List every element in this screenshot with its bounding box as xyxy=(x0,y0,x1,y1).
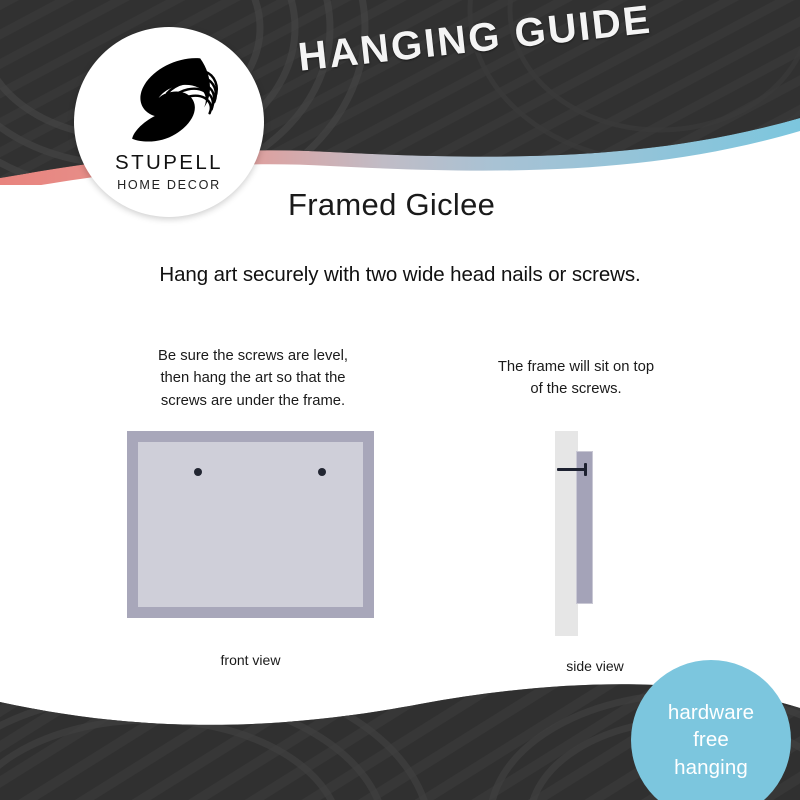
side-instruction-line-1: The frame will sit on top xyxy=(460,356,692,378)
front-view-mat xyxy=(138,442,363,607)
badge-line-3: hanging xyxy=(674,754,748,781)
side-view-diagram xyxy=(530,425,660,640)
side-instruction-line-2: of the screws. xyxy=(460,378,692,400)
badge-line-2: free xyxy=(693,726,729,753)
hardware-free-hanging-badge: hardware free hanging xyxy=(631,660,791,800)
badge-line-1: hardware xyxy=(668,699,754,726)
intro-instruction: Hang art securely with two wide head nai… xyxy=(0,263,800,287)
product-type-heading: Framed Giclee xyxy=(288,187,495,223)
stupell-swoosh-logo-icon xyxy=(117,47,221,151)
page-title: HANGING GUIDE xyxy=(296,0,654,81)
front-view-label: front view xyxy=(127,652,374,668)
screw-shaft-icon xyxy=(557,468,586,471)
brand-subtitle: HOME DECOR xyxy=(117,179,221,192)
hanging-guide-page: STUPELL HOME DECOR HANGING GUIDE Framed … xyxy=(0,0,800,800)
front-instruction-line-3: screws are under the frame. xyxy=(118,390,388,412)
front-view-instructions: Be sure the screws are level, then hang … xyxy=(118,345,388,412)
screw-dot-left-icon xyxy=(194,468,202,476)
screw-head-icon xyxy=(584,463,587,476)
front-view-diagram xyxy=(127,431,374,618)
side-view-instructions: The frame will sit on top of the screws. xyxy=(460,356,692,401)
front-instruction-line-2: then hang the art so that the xyxy=(118,367,388,389)
front-instruction-line-1: Be sure the screws are level, xyxy=(118,345,388,367)
side-view-label: side view xyxy=(500,658,690,674)
wall-strip xyxy=(555,431,578,636)
brand-logo-badge: STUPELL HOME DECOR xyxy=(74,27,264,217)
screw-dot-right-icon xyxy=(318,468,326,476)
brand-name: STUPELL xyxy=(115,153,223,174)
